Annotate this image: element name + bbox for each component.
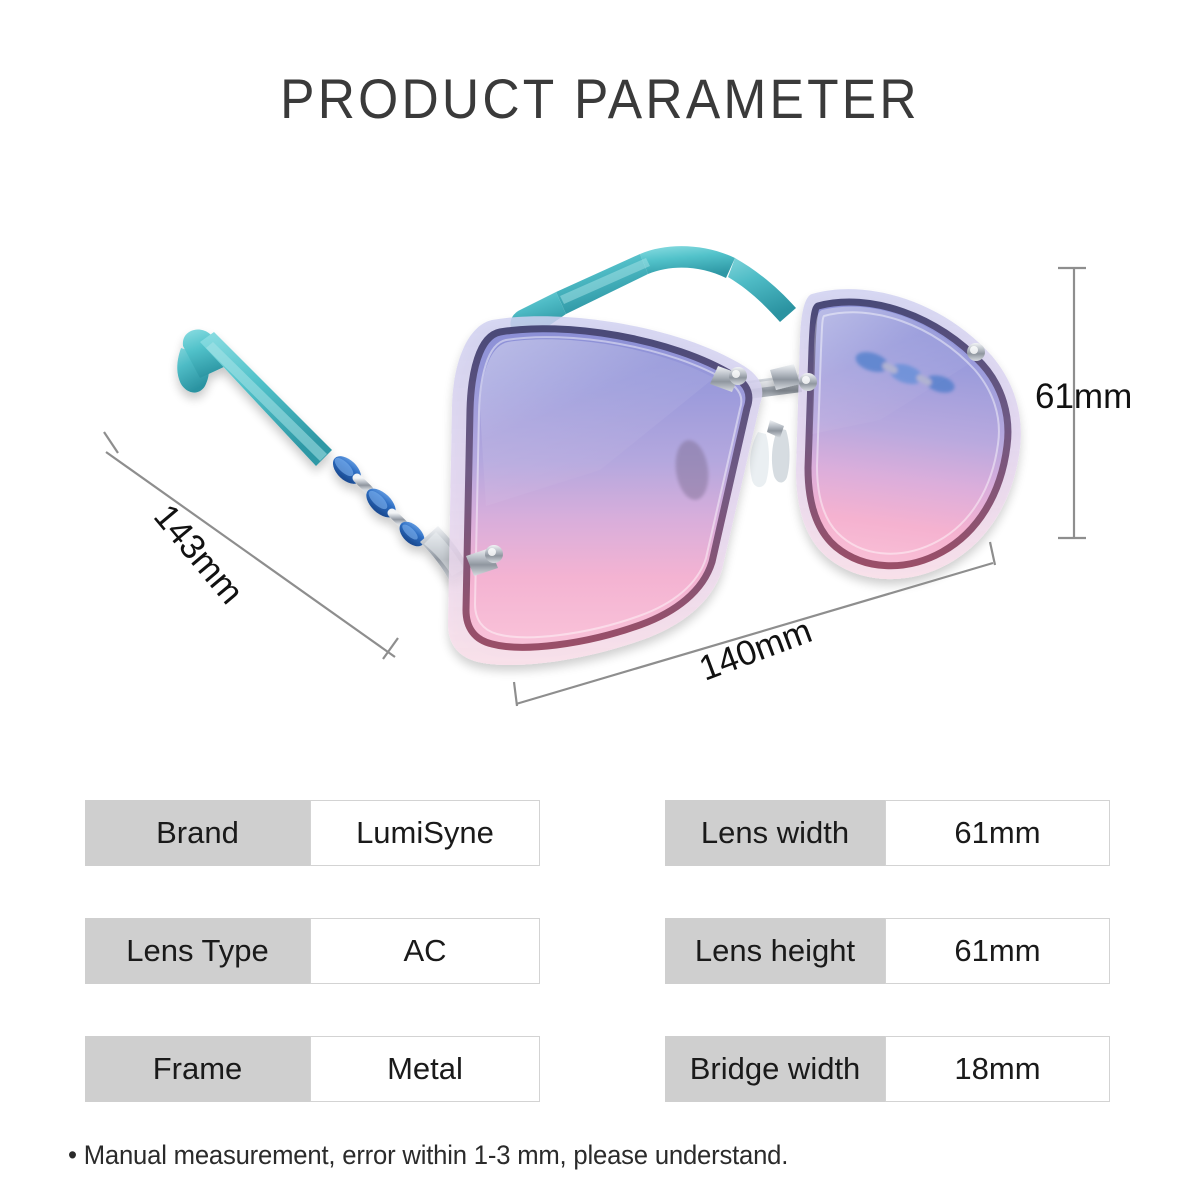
spec-value-brand: LumiSyne <box>310 800 540 866</box>
left-lens <box>448 316 762 665</box>
spec-value-bridge-width: 18mm <box>885 1036 1110 1102</box>
table-row: Brand LumiSyne <box>85 800 540 866</box>
spec-key-frame: Frame <box>85 1036 310 1102</box>
right-lens-outer-hinge <box>967 343 985 361</box>
product-hero <box>0 170 1200 760</box>
specification-tables: Brand LumiSyne Lens Type AC Frame Metal … <box>0 800 1200 1110</box>
table-row: Lens Type AC <box>85 918 540 984</box>
table-row: Lens height 61mm <box>665 918 1110 984</box>
spec-key-lens-height: Lens height <box>665 918 885 984</box>
page-title: PRODUCT PARAMETER <box>48 66 1152 131</box>
left-temple-arm <box>177 330 470 582</box>
spec-key-lens-type: Lens Type <box>85 918 310 984</box>
spec-value-lens-width: 61mm <box>885 800 1110 866</box>
lens-height-dimension-label: 61mm <box>1035 377 1132 417</box>
spec-table-right: Lens width 61mm Lens height 61mm Bridge … <box>665 800 1110 1102</box>
spec-value-lens-type: AC <box>310 918 540 984</box>
table-row: Lens width 61mm <box>665 800 1110 866</box>
spec-value-lens-height: 61mm <box>885 918 1110 984</box>
spec-key-brand: Brand <box>85 800 310 866</box>
table-row: Bridge width 18mm <box>665 1036 1110 1102</box>
sunglasses-illustration <box>0 170 1200 760</box>
spec-key-lens-width: Lens width <box>665 800 885 866</box>
spec-table-left: Brand LumiSyne Lens Type AC Frame Metal <box>85 800 540 1102</box>
measurement-disclaimer: • Manual measurement, error within 1-3 m… <box>68 1140 788 1171</box>
chain-link-detail <box>328 451 429 551</box>
spec-value-frame: Metal <box>310 1036 540 1102</box>
spec-key-bridge-width: Bridge width <box>665 1036 885 1102</box>
right-lens <box>770 289 1021 579</box>
table-row: Frame Metal <box>85 1036 540 1102</box>
